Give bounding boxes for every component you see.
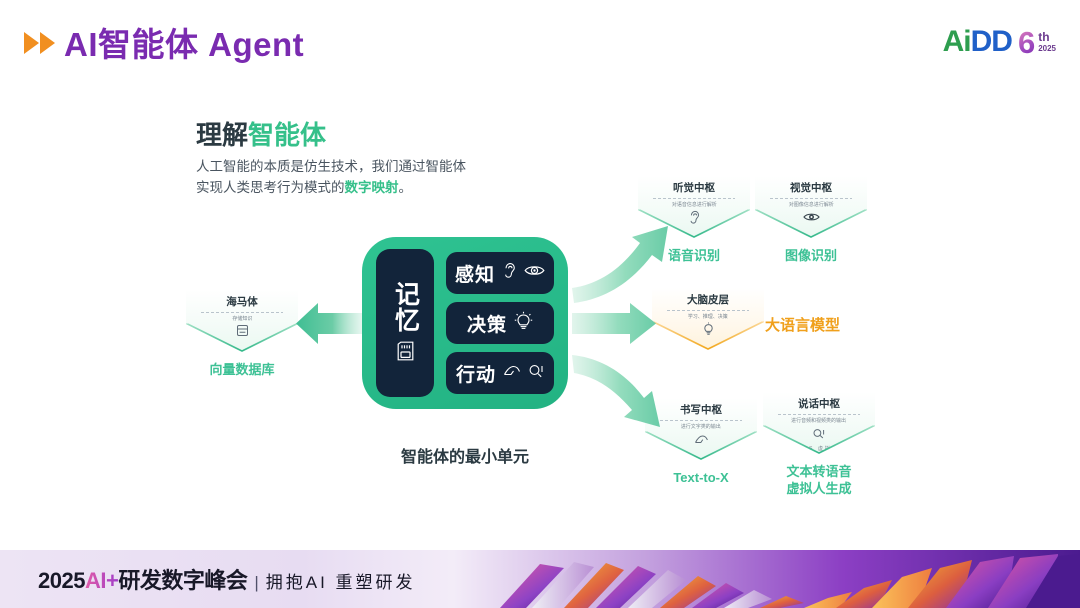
node-desc: 对语音信息进行解析 — [672, 201, 717, 208]
database-icon — [236, 324, 249, 342]
footer-year: 2025 — [38, 568, 85, 594]
section-subtitle-line2-post: 。 — [399, 180, 413, 195]
chevron-shape-auditory: 听觉中枢 对语音信息进行解析 — [638, 176, 750, 238]
core-caption: 智能体的最小单元 — [362, 443, 568, 467]
core-capability-list: 感知 决策 — [446, 252, 554, 394]
section-subtitle-line2: 实现人类思考行为模式的数字映射。 — [196, 177, 466, 198]
node-hippocampus[interactable]: 海马体 存储知识 向量数据库 — [186, 290, 298, 378]
logo-th: th — [1038, 31, 1049, 43]
node-title: 海马体 — [226, 294, 258, 309]
node-auditory[interactable]: 听觉中枢 对语音信息进行解析 语音识别 — [638, 176, 750, 264]
node-title: 书写中枢 — [680, 402, 722, 417]
node-label: 向量数据库 — [186, 361, 298, 378]
divider — [653, 198, 735, 199]
section-heading-prefix: 理解 — [196, 120, 248, 150]
node-visual[interactable]: 视觉中枢 对图像信息进行解析 图像识别 — [755, 176, 867, 264]
capability-perception[interactable]: 感知 — [446, 252, 554, 294]
node-desc: 存储知识 — [232, 315, 252, 322]
memory-label: 记忆 — [392, 281, 419, 333]
capability-action-label: 行动 — [456, 360, 496, 387]
logo-six: 6 — [1018, 27, 1035, 58]
logo-year: 2025 — [1038, 45, 1056, 53]
ear-icon — [502, 262, 517, 284]
memory-module[interactable]: 记忆 — [376, 249, 434, 397]
capability-decision[interactable]: 决策 — [446, 302, 554, 344]
footer-ai-plus: AI+ — [85, 568, 118, 594]
node-title: 说话中枢 — [798, 396, 840, 411]
speech-bubble-icon — [528, 363, 544, 384]
node-desc: 对图像信息进行解析 — [789, 201, 834, 208]
chevron-shape-visual: 视觉中枢 对图像信息进行解析 — [755, 176, 867, 238]
lightbulb-icon — [702, 322, 715, 342]
node-title: 视觉中枢 — [790, 180, 832, 195]
node-writing[interactable]: 书写中枢 进行文字类的输出 Text-to-X — [645, 398, 757, 486]
memory-card-icon — [397, 341, 414, 366]
node-label-line1: 文本转语音 — [763, 463, 875, 480]
llm-label: 大语言模型 — [765, 314, 840, 335]
node-title: 听觉中枢 — [673, 180, 715, 195]
node-label: 文本转语音 虚拟人生成 — [763, 463, 875, 497]
chevron-shape-hippocampus: 海马体 存储知识 — [186, 290, 298, 352]
section-heading: 理解智能体 — [196, 115, 326, 152]
capability-decision-label: 决策 — [467, 310, 507, 337]
footer-text: 2025 AI+ 研发数字峰会 | 拥抱AI 重塑研发 — [38, 563, 416, 595]
slide-footer: 2025 AI+ 研发数字峰会 | 拥抱AI 重塑研发 — [0, 550, 1080, 608]
pen-cloud-icon — [694, 432, 709, 450]
capability-perception-label: 感知 — [455, 260, 495, 287]
logo-letter-a: A — [943, 25, 964, 58]
section-subtitle-accent: 数字映射 — [345, 180, 399, 195]
divider — [778, 414, 860, 415]
footer-slogan: 拥抱AI 重塑研发 — [266, 568, 416, 593]
agent-core-card: 记忆 感知 — [362, 237, 568, 409]
chevron-shape-speech: 说话中枢 进行音频和视频类的输出 TTS 虚拟人 — [763, 392, 875, 454]
arrow-to-cortex — [572, 303, 656, 344]
chevron-shape-cortex: 大脑皮层 学习、推理、决策 — [652, 288, 764, 350]
node-desc: 进行文字类的输出 — [681, 423, 721, 430]
aidd-logo: AiDD 6 th 2025 — [943, 20, 1056, 64]
hand-gesture-icon — [503, 363, 521, 383]
divider — [770, 198, 852, 199]
speech-avatar-icon — [812, 426, 826, 444]
footer-divider: | — [254, 573, 258, 593]
slide-header: AI智能体 Agent AiDD 6 th 2025 — [0, 0, 1080, 88]
section-subtitle: 人工智能的本质是仿生技术，我们通过智能体 实现人类思考行为模式的数字映射。 — [196, 156, 466, 198]
footer-summit-name: 研发数字峰会 — [118, 563, 247, 595]
double-triangle-icon — [24, 31, 58, 55]
logo-letters-dd: DD — [971, 25, 1012, 58]
capability-action[interactable]: 行动 — [446, 352, 554, 394]
node-title: 大脑皮层 — [687, 292, 729, 307]
node-label: 语音识别 — [638, 247, 750, 264]
page-title: AI智能体 Agent — [64, 18, 304, 66]
node-speech[interactable]: 说话中枢 进行音频和视频类的输出 TTS 虚拟人 文本转语音 虚拟人生成 — [763, 392, 875, 497]
divider — [667, 310, 749, 311]
chevron-shape-writing: 书写中枢 进行文字类的输出 — [645, 398, 757, 460]
divider — [660, 420, 742, 421]
node-sub: TTS 虚拟人 — [799, 445, 839, 452]
node-desc: 学习、推理、决策 — [688, 313, 728, 320]
divider — [201, 312, 283, 313]
logo-letter-i: i — [963, 25, 970, 58]
lightbulb-icon — [514, 311, 533, 336]
node-label-line2: 虚拟人生成 — [763, 480, 875, 497]
node-cortex[interactable]: 大脑皮层 学习、推理、决策 — [652, 288, 764, 350]
footer-ribbon-graphic — [460, 550, 1080, 608]
section-subtitle-line2-pre: 实现人类思考行为模式的 — [196, 180, 345, 195]
node-label: Text-to-X — [645, 469, 757, 486]
node-label: 图像识别 — [755, 247, 867, 264]
section-heading-accent: 智能体 — [248, 120, 326, 150]
node-desc: 进行音频和视频类的输出 — [792, 417, 847, 424]
ear-icon — [688, 210, 701, 230]
section-subtitle-line1: 人工智能的本质是仿生技术，我们通过智能体 — [196, 156, 466, 177]
eye-icon — [524, 263, 545, 283]
arrow-to-hippocampus — [296, 303, 362, 344]
eye-icon — [803, 210, 820, 228]
